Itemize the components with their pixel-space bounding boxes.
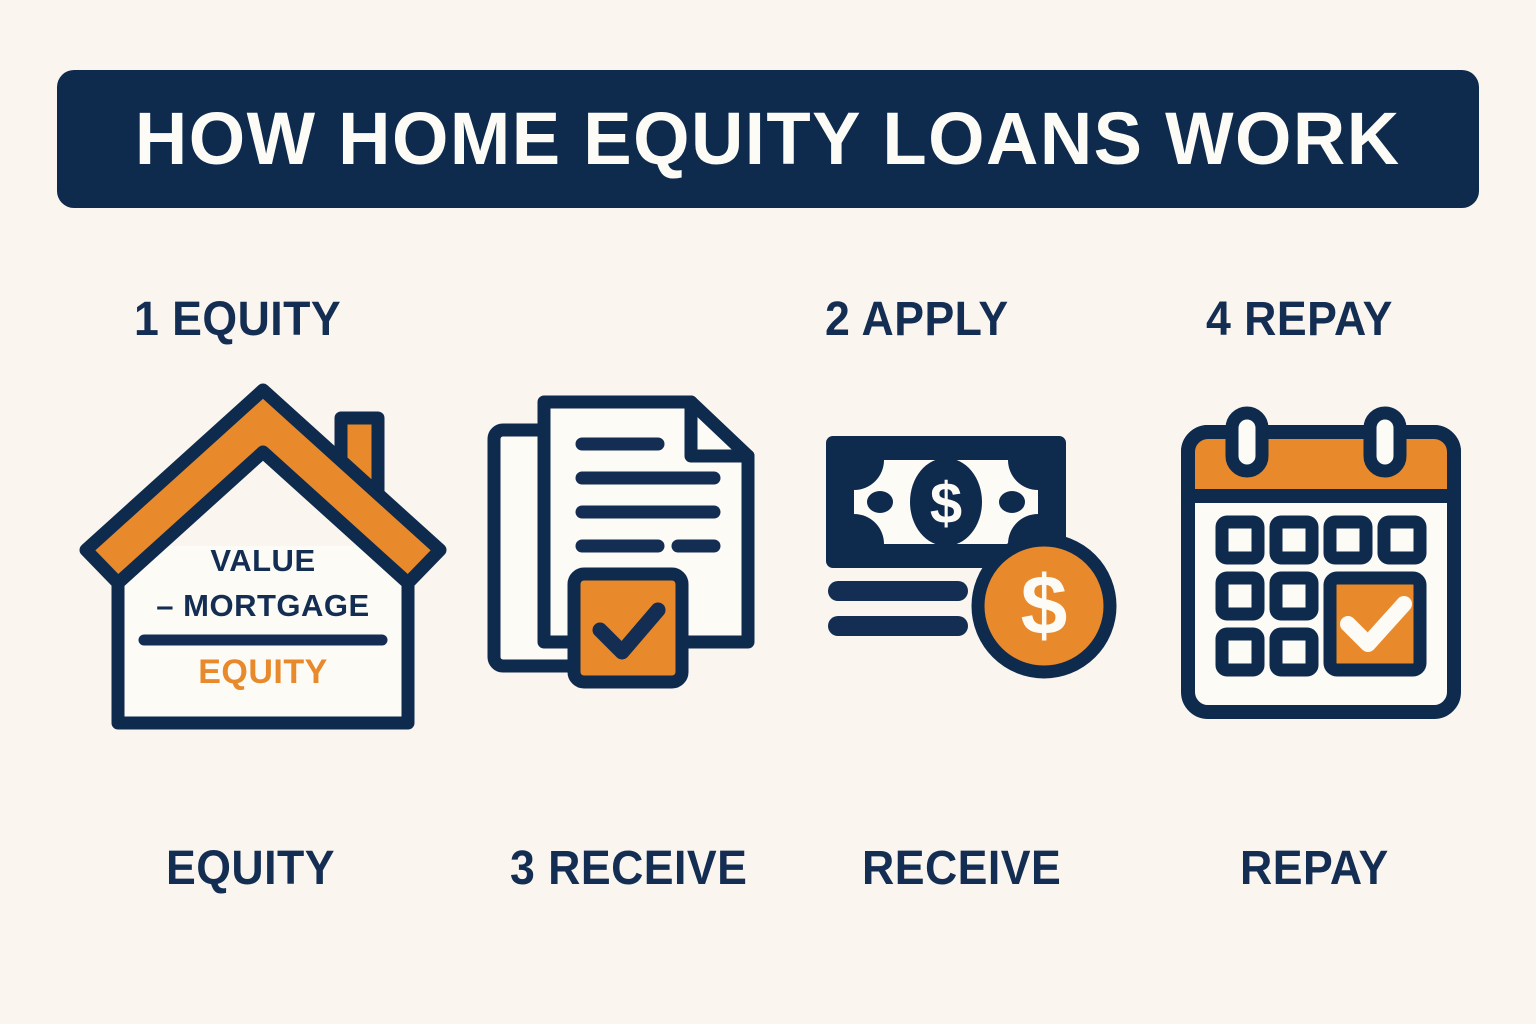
coin-dollar-sign: $ (1021, 558, 1068, 652)
title-banner: HOW HOME EQUITY LOANS WORK (57, 70, 1479, 208)
calendar-payment-day (1330, 578, 1420, 670)
calendar-ring-right (1370, 413, 1400, 471)
step-label-repay-top: 4 REPAY (1206, 296, 1393, 344)
house-label-equity: EQUITY (198, 653, 328, 691)
banknote-dollar-sign: $ (930, 471, 962, 536)
banknote-dot-left (867, 491, 893, 513)
house-label-value: VALUE (210, 543, 315, 578)
house-label-mortgage: – MORTGAGE (156, 588, 369, 623)
step-label-apply-top: 2 APPLY (825, 296, 1009, 344)
calendar-ring-left (1232, 413, 1262, 471)
page-title: HOW HOME EQUITY LOANS WORK (135, 102, 1401, 176)
step-label-equity-top: 1 EQUITY (134, 296, 341, 344)
stacked-bills (838, 591, 958, 626)
step-label-equity-bottom: EQUITY (166, 845, 335, 893)
approved-checkbox (574, 574, 682, 682)
banknote-dot-right (999, 491, 1025, 513)
house-equity-icon: VALUE – MORTGAGE EQUITY (78, 378, 456, 746)
cash-and-coin-icon: $ $ (818, 428, 1140, 680)
coin-shape: $ (978, 540, 1110, 672)
step-label-receive-bottom: 3 RECEIVE (510, 845, 747, 893)
documents-approved-icon (486, 384, 786, 702)
step-label-receive-alt-bottom: RECEIVE (862, 845, 1061, 893)
calendar-check-icon (1180, 410, 1462, 720)
infographic-canvas: HOW HOME EQUITY LOANS WORK 1 EQUITY 2 AP… (0, 0, 1536, 1024)
step-label-repay-bottom: REPAY (1240, 845, 1389, 893)
